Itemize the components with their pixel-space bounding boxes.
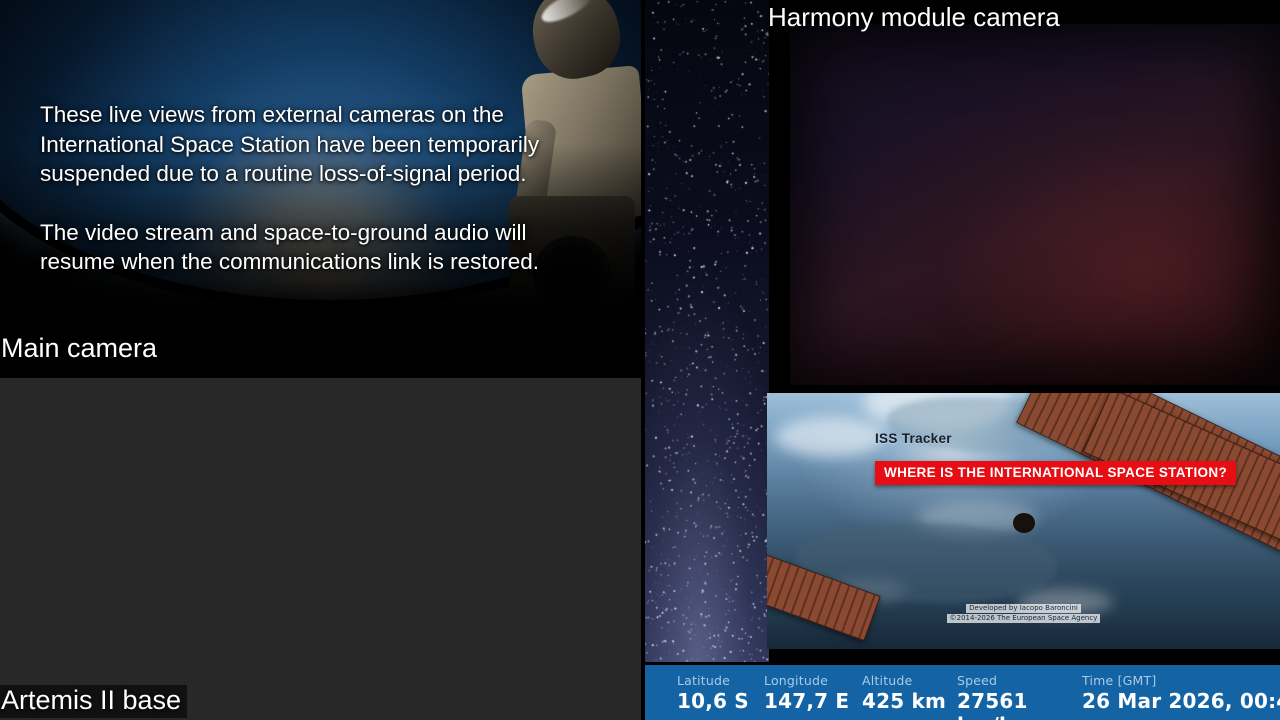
latitude-value: 10,6 S bbox=[677, 689, 764, 713]
altitude-value: 425 km bbox=[862, 689, 957, 713]
starfield-background bbox=[645, 0, 769, 662]
iss-tracker-banner: WHERE IS THE INTERNATIONAL SPACE STATION… bbox=[875, 461, 1236, 485]
tracker-credits: Developed by Iacopo Baroncini ©2014-2026… bbox=[767, 604, 1280, 623]
telemetry-field-longitude: Longitude 147,7 E bbox=[764, 674, 862, 713]
artemis-base-label: Artemis II base bbox=[0, 685, 187, 718]
credit-copyright: ©2014-2026 The European Space Agency bbox=[947, 614, 1101, 623]
array-joint-node bbox=[1013, 513, 1035, 533]
right-column: Harmony module camera ISS Tracker WHERE … bbox=[641, 0, 1280, 720]
longitude-label: Longitude bbox=[764, 674, 862, 688]
telemetry-field-altitude: Altitude 425 km bbox=[862, 674, 957, 713]
time-label: Time [GMT] bbox=[1082, 674, 1280, 688]
time-value: 26 Mar 2026, 00:47:02 bbox=[1082, 689, 1280, 713]
iss-tracker-panel[interactable]: ISS Tracker WHERE IS THE INTERNATIONAL S… bbox=[767, 393, 1280, 649]
latitude-label: Latitude bbox=[677, 674, 764, 688]
longitude-value: 147,7 E bbox=[764, 689, 862, 713]
los-paragraph-2: The video stream and space-to-ground aud… bbox=[40, 218, 600, 277]
speed-value: 27561 km/h bbox=[957, 689, 1082, 720]
telemetry-field-speed: Speed 27561 km/h bbox=[957, 674, 1082, 720]
los-paragraph-1: These live views from external cameras o… bbox=[40, 100, 600, 189]
harmony-camera-label: Harmony module camera bbox=[768, 4, 1060, 30]
harmony-camera-panel[interactable] bbox=[790, 24, 1280, 385]
cloud-shape bbox=[775, 417, 885, 457]
telemetry-bar: Latitude 10,6 S Longitude 147,7 E Altitu… bbox=[645, 665, 1280, 720]
telemetry-field-latitude: Latitude 10,6 S bbox=[677, 674, 764, 713]
telemetry-field-time: Time [GMT] 26 Mar 2026, 00:47:02 bbox=[1082, 674, 1280, 713]
loss-of-signal-message: These live views from external cameras o… bbox=[40, 100, 600, 277]
iss-tracker-title: ISS Tracker bbox=[875, 431, 952, 446]
main-camera-label: Main camera bbox=[0, 335, 157, 362]
altitude-label: Altitude bbox=[862, 674, 957, 688]
artemis-base-panel[interactable]: This live stream recording is not availa… bbox=[0, 378, 641, 720]
speed-label: Speed bbox=[957, 674, 1082, 688]
credit-developer: Developed by Iacopo Baroncini bbox=[966, 604, 1081, 613]
video-wall-screen: These live views from external cameras o… bbox=[0, 0, 1280, 720]
main-camera-panel[interactable]: These live views from external cameras o… bbox=[0, 0, 641, 378]
milky-way-glow bbox=[645, 265, 769, 662]
